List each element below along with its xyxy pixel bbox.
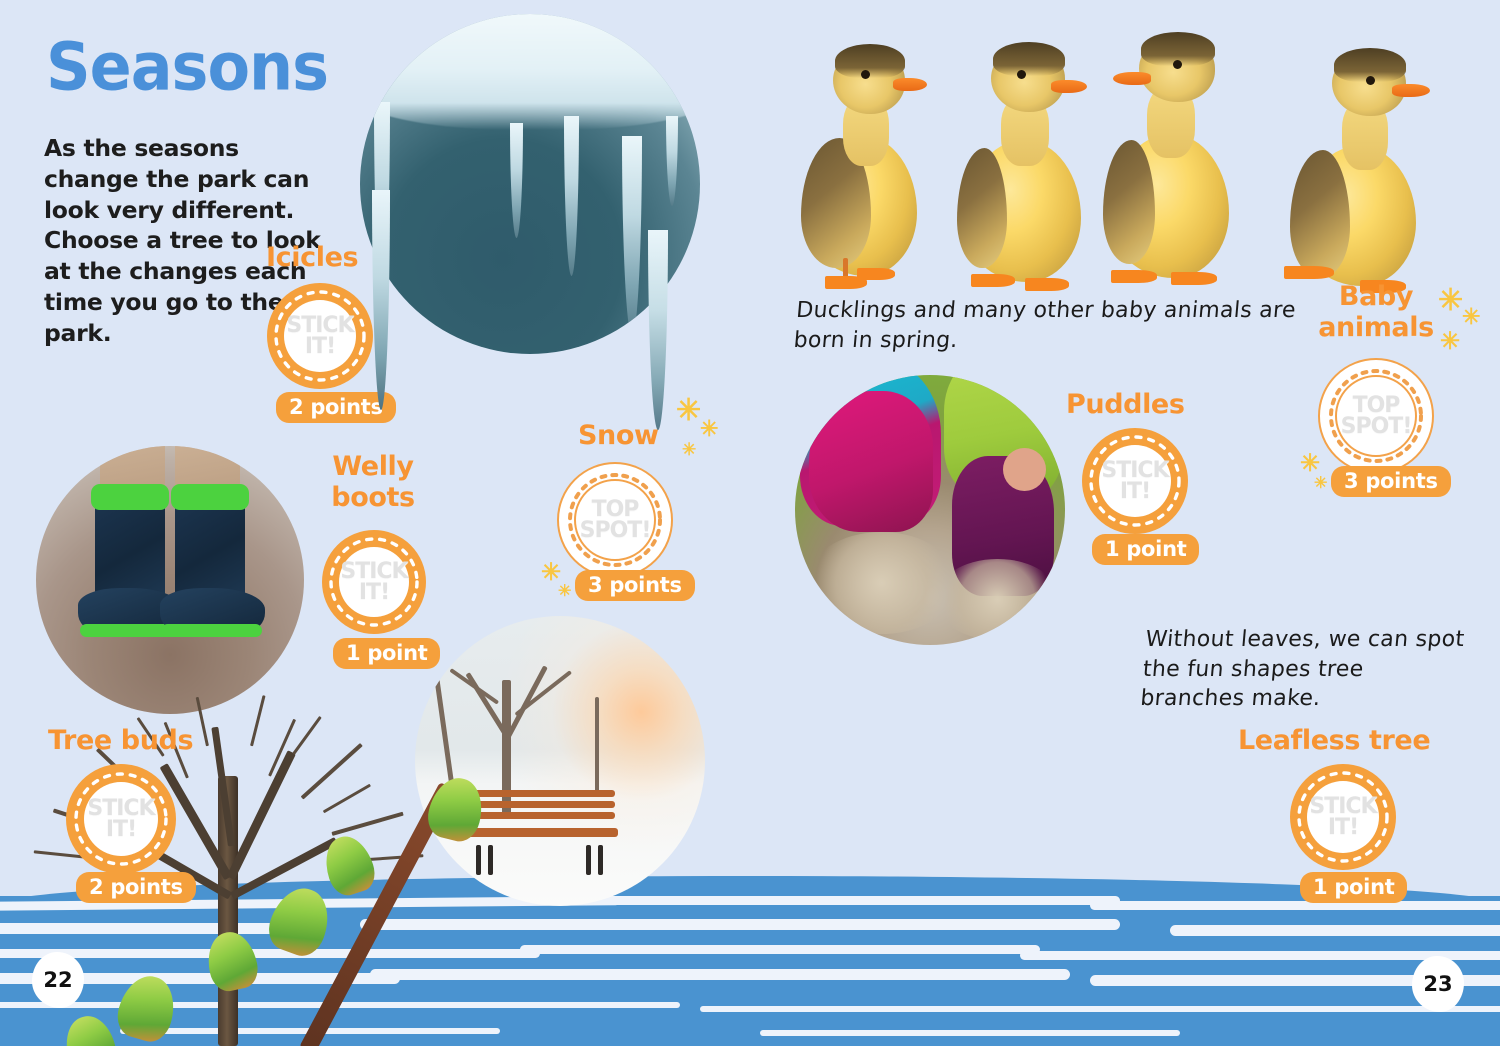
sparkle-icon: ✳ bbox=[541, 561, 561, 585]
puddles-photo bbox=[795, 375, 1065, 645]
icicle bbox=[622, 136, 642, 336]
badge-puddles[interactable]: STICK IT! bbox=[1082, 428, 1188, 534]
branches-note: Without leaves, we can spot the fun shap… bbox=[1139, 625, 1467, 714]
ducklings-photo bbox=[795, 8, 1495, 288]
sparkle-icon: ✳ bbox=[1300, 452, 1320, 476]
tree-bud bbox=[60, 1011, 120, 1046]
sparkle-icon: ✳ bbox=[1314, 476, 1327, 492]
sparkle-icon: ✳ bbox=[1462, 306, 1480, 328]
wave-stripe bbox=[1090, 901, 1500, 910]
badge-baby-animals[interactable]: TOP SPOT! bbox=[1318, 358, 1430, 470]
tree-bud bbox=[318, 830, 380, 899]
spot-label-welly-boots: Welly boots bbox=[325, 452, 421, 513]
points-snow: 3 points bbox=[575, 570, 695, 601]
page-title: Seasons bbox=[46, 34, 328, 100]
spread-page: Seasons As the seasons change the park c… bbox=[0, 0, 1500, 1046]
boot bbox=[95, 497, 165, 631]
ice-cap bbox=[360, 14, 700, 130]
badge-text: STICK IT! bbox=[1090, 460, 1180, 502]
badge-snow[interactable]: TOP SPOT! bbox=[557, 462, 669, 574]
sparkle-icon: ✳ bbox=[558, 584, 571, 600]
points-baby-animals: 3 points bbox=[1331, 466, 1451, 497]
boot bbox=[175, 497, 245, 631]
badge-text: TOP SPOT! bbox=[567, 499, 663, 541]
spot-label-snow: Snow bbox=[578, 421, 659, 452]
points-welly-boots: 1 point bbox=[333, 638, 440, 669]
badge-leafless-tree[interactable]: STICK IT! bbox=[1290, 764, 1396, 870]
wave-stripe bbox=[1170, 925, 1500, 936]
spot-label-baby-animals: Baby animals bbox=[1312, 282, 1440, 343]
sparkle-icon: ✳ bbox=[1438, 286, 1463, 316]
badge-tree-buds[interactable]: STICK IT! bbox=[66, 764, 176, 874]
icicle bbox=[666, 116, 678, 206]
duckling bbox=[795, 26, 945, 291]
duckling bbox=[1280, 38, 1440, 296]
duckling bbox=[1095, 22, 1250, 290]
tree-bud bbox=[112, 970, 182, 1046]
badge-text: STICK IT! bbox=[329, 561, 419, 603]
wave-stripe bbox=[700, 1006, 1500, 1012]
spot-label-leafless-tree: Leafless tree bbox=[1238, 726, 1430, 757]
points-leafless-tree: 1 point bbox=[1300, 872, 1407, 903]
welly-boots-photo bbox=[36, 446, 304, 714]
badge-welly-boots[interactable]: STICK IT! bbox=[322, 530, 426, 634]
sparkle-icon: ✳ bbox=[700, 418, 718, 440]
wave-stripe bbox=[760, 1030, 1180, 1036]
tree-bud bbox=[202, 928, 261, 995]
badge-text: STICK IT! bbox=[1298, 796, 1388, 838]
wave-stripe bbox=[520, 945, 1040, 954]
badge-text: STICK IT! bbox=[75, 798, 167, 840]
spot-label-tree-buds: Tree buds bbox=[48, 726, 193, 757]
badge-text: STICK IT! bbox=[275, 315, 365, 357]
sparkle-icon: ✳ bbox=[676, 396, 701, 426]
page-number-right: 23 bbox=[1412, 956, 1464, 1012]
ducklings-note: Ducklings and many other baby animals ar… bbox=[792, 296, 1297, 355]
sparkle-icon: ✳ bbox=[682, 441, 696, 458]
icicle bbox=[648, 230, 668, 430]
icicle bbox=[510, 123, 523, 238]
tree-bud bbox=[262, 880, 337, 961]
spot-label-icicles: Icicles bbox=[266, 243, 358, 274]
spot-label-puddles: Puddles bbox=[1066, 390, 1185, 421]
sparkle-icon: ✳ bbox=[1440, 330, 1460, 354]
badge-icicles[interactable]: STICK IT! bbox=[267, 283, 373, 389]
wave-stripe bbox=[600, 896, 1120, 905]
points-tree-buds: 2 points bbox=[76, 872, 196, 903]
page-number-left: 22 bbox=[32, 952, 84, 1008]
icicle bbox=[564, 116, 579, 276]
duckling bbox=[955, 30, 1105, 292]
badge-text: TOP SPOT! bbox=[1328, 395, 1424, 437]
points-puddles: 1 point bbox=[1092, 534, 1199, 565]
